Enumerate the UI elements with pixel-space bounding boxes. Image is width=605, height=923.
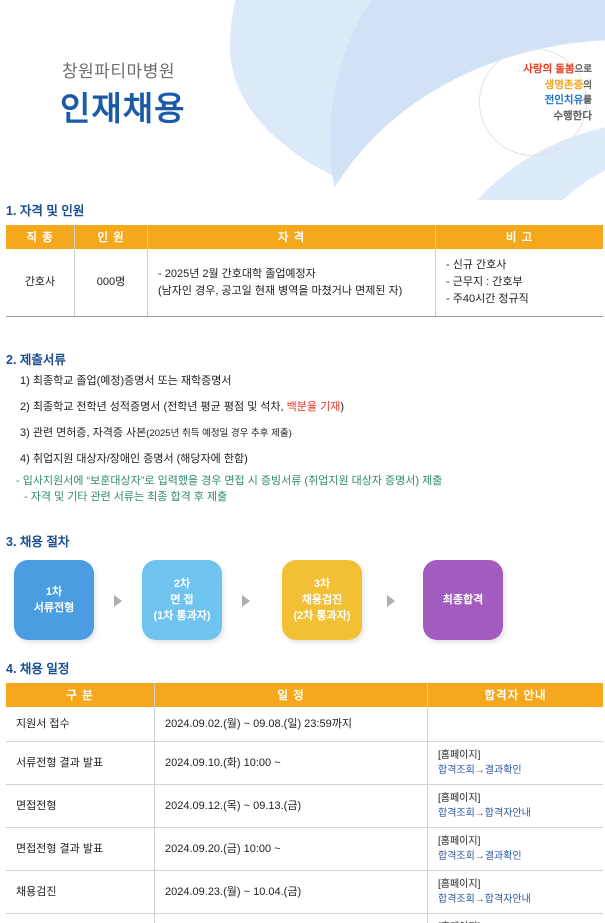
process-step-2: 2차 면 접 (1차 통과자) [142, 560, 222, 640]
page-title: 인재채용 [60, 82, 185, 130]
step-1-line-1: 1차 [34, 584, 74, 600]
slogan-line-3-suffix: 를 [583, 95, 592, 106]
cell-schedule: 2024.09.10.(화) 10:00 ~ [155, 742, 428, 785]
doc-2-text-after: ) [340, 401, 344, 413]
notice-link[interactable]: 합격조회→합격자안내 [438, 806, 593, 821]
step-1-line-2: 서류전형 [34, 600, 74, 616]
slogan-line-3-accent: 전인치유 [545, 94, 584, 106]
col-job: 직 종 [6, 225, 75, 249]
flow-arrow-icon-1 [114, 595, 122, 607]
documents-sub-note-1: - 입사지원서에 “보훈대상자”로 입력했을 경우 면접 시 증빙서류 (취업지… [16, 473, 603, 489]
slogan-line-2-accent: 생명존중 [545, 79, 584, 91]
cell-job: 간호사 [6, 249, 75, 317]
cell-category: 최종 합격자 발표 [6, 914, 155, 923]
cell-category: 채용검진 [6, 871, 155, 914]
slogan-line-1: 사랑의 돌봄으로 [470, 62, 592, 78]
notice-title: [홈페이지] [438, 834, 593, 849]
qualification-table: 직 종 인 원 자 격 비 고 간호사 000명 - 2025년 2월 간호대학… [6, 225, 603, 317]
notice-title: [홈페이지] [438, 791, 593, 806]
section3-heading: 3. 채용 절차 [6, 531, 603, 550]
section2-heading: 2. 제출서류 [6, 349, 603, 368]
process-step-1: 1차 서류전형 [14, 560, 94, 640]
step-2-line-1: 2차 [154, 576, 211, 592]
cell-category: 지원서 접수 [6, 707, 155, 742]
remark-line-3: - 주40시간 정규직 [446, 291, 593, 308]
list-item: 2) 최종학교 전학년 성적증명서 (전학년 평균 평점 및 석차, 백분율 기… [20, 400, 603, 415]
notice-title: [홈페이지] [438, 877, 593, 892]
cell-remark: - 신규 간호사 - 근무지 : 간호부 - 주40시간 정규직 [436, 249, 604, 317]
doc-3-text: 관련 면허증, 자격증 사본 [33, 427, 146, 439]
documents-sub-note-2: - 자격 및 기타 관련 서류는 최종 합격 후 제출 [24, 489, 603, 505]
col-category: 구 분 [6, 683, 155, 707]
cell-notice: [홈페이지]합격조회→합격자안내 [428, 871, 604, 914]
header-banner: 창원파티마병원 인재채용 사랑의 돌봄으로 생명존중의 전인치유를 수행한다 [0, 0, 605, 200]
table-row: 최종 합격자 발표2024.10.11.(금) 10:00~[홈페이지]합격조회… [6, 914, 603, 923]
slogan-line-1-suffix: 으로 [575, 64, 592, 75]
hospital-name: 창원파티마병원 [62, 57, 175, 82]
notice-link[interactable]: 합격조회→결과확인 [438, 763, 593, 778]
slogan-line-4: 수행한다 [470, 109, 592, 124]
notice-link[interactable]: 합격조회→합격자안내 [438, 892, 593, 907]
cell-schedule: 2024.09.12.(목) ~ 09.13.(금) [155, 785, 428, 828]
doc-2-num: 2) [20, 401, 30, 413]
cell-category: 면접전형 [6, 785, 155, 828]
step-2-line-3: (1차 통과자) [154, 608, 211, 624]
qualification-line-1: - 2025년 2월 간호대학 졸업예정자 [158, 266, 425, 283]
doc-3-num: 3) [20, 427, 30, 439]
table-row: 면접전형2024.09.12.(목) ~ 09.13.(금)[홈페이지]합격조회… [6, 785, 603, 828]
table-header-row: 구 분 일 정 합격자 안내 [6, 683, 603, 707]
cell-notice: [홈페이지]합격조회→결과확인 [428, 742, 604, 785]
slogan: 사랑의 돌봄으로 생명존중의 전인치유를 수행한다 [470, 62, 592, 123]
flow-arrow-icon-3 [387, 595, 395, 607]
notice-title: [홈페이지] [438, 748, 593, 763]
doc-3-small-note: (2025년 취득 예정일 경우 추후 제출) [146, 428, 292, 439]
cell-schedule: 2024.09.23.(월) ~ 10.04.(금) [155, 871, 428, 914]
section-schedule: 4. 채용 일정 구 분 일 정 합격자 안내 지원서 접수2024.09.02… [0, 658, 605, 923]
schedule-table: 구 분 일 정 합격자 안내 지원서 접수2024.09.02.(월) ~ 09… [6, 683, 603, 923]
doc-2-highlight: 백분율 기재 [287, 401, 341, 413]
table-row: 간호사 000명 - 2025년 2월 간호대학 졸업예정자 (남자인 경우, … [6, 249, 603, 317]
list-item: 1) 최종학교 졸업(예정)증명서 또는 재학증명서 [20, 374, 603, 389]
documents-list: 1) 최종학교 졸업(예정)증명서 또는 재학증명서 2) 최종학교 전학년 성… [20, 374, 603, 467]
cell-notice: [홈페이지]합격조회→결과확인 [428, 914, 604, 923]
list-item: 4) 취업지원 대상자/장애인 증명서 (해당자에 한함) [20, 452, 603, 467]
slogan-line-3: 전인치유를 [470, 93, 592, 109]
process-step-4: 최종합격 [423, 560, 503, 640]
recruitment-poster: 창원파티마병원 인재채용 사랑의 돌봄으로 생명존중의 전인치유를 수행한다 1… [0, 0, 605, 923]
section-process: 3. 채용 절차 1차 서류전형 2차 면 접 (1차 통과자) 3차 [0, 531, 605, 646]
remark-line-2: - 근무지 : 간호부 [446, 274, 593, 291]
slogan-line-2: 생명존중의 [470, 78, 592, 94]
table-row: 채용검진2024.09.23.(월) ~ 10.04.(금)[홈페이지]합격조회… [6, 871, 603, 914]
doc-1-num: 1) [20, 375, 30, 387]
cell-count: 000명 [75, 249, 148, 317]
cell-notice [428, 707, 604, 742]
col-count: 인 원 [75, 225, 148, 249]
step-2-line-2: 면 접 [154, 592, 211, 608]
doc-4-text: 취업지원 대상자/장애인 증명서 (해당자에 한함) [33, 453, 248, 465]
flow-arrow-icon-2 [242, 595, 250, 607]
table-header-row: 직 종 인 원 자 격 비 고 [6, 225, 603, 249]
cell-qualification: - 2025년 2월 간호대학 졸업예정자 (남자인 경우, 공고일 현재 병역… [148, 249, 436, 317]
cell-schedule: 2024.09.02.(월) ~ 09.08.(일) 23:59까지 [155, 707, 428, 742]
cell-notice: [홈페이지]합격조회→합격자안내 [428, 785, 604, 828]
col-schedule: 일 정 [155, 683, 428, 707]
doc-1-text: 최종학교 졸업(예정)증명서 또는 재학증명서 [33, 375, 232, 387]
step-4-line-1: 최종합격 [443, 592, 483, 608]
slogan-line-2-suffix: 의 [583, 80, 592, 91]
table-row: 서류전형 결과 발표2024.09.10.(화) 10:00 ~[홈페이지]합격… [6, 742, 603, 785]
cell-category: 면접전형 결과 발표 [6, 828, 155, 871]
cell-schedule: 2024.10.11.(금) 10:00~ [155, 914, 428, 923]
cell-notice: [홈페이지]합격조회→결과확인 [428, 828, 604, 871]
section-documents: 2. 제출서류 1) 최종학교 졸업(예정)증명서 또는 재학증명서 2) 최종… [0, 349, 605, 505]
step-3-line-1: 3차 [294, 576, 351, 592]
doc-2-text-before: 최종학교 전학년 성적증명서 (전학년 평균 평점 및 석차, [33, 401, 287, 413]
table-row: 면접전형 결과 발표2024.09.20.(금) 10:00 ~[홈페이지]합격… [6, 828, 603, 871]
cell-category: 서류전형 결과 발표 [6, 742, 155, 785]
section4-heading: 4. 채용 일정 [6, 658, 603, 677]
col-remark: 비 고 [436, 225, 604, 249]
doc-4-num: 4) [20, 453, 30, 465]
list-item: 3) 관련 면허증, 자격증 사본(2025년 취득 예정일 경우 추후 제출) [20, 426, 603, 441]
col-qualification: 자 격 [148, 225, 436, 249]
process-flow: 1차 서류전형 2차 면 접 (1차 통과자) 3차 채용검진 (2차 통과자) [6, 556, 603, 646]
section-qualification: 1. 자격 및 인원 직 종 인 원 자 격 비 고 간호사 000명 - 20… [0, 200, 605, 317]
step-3-line-3: (2차 통과자) [294, 608, 351, 624]
process-step-3: 3차 채용검진 (2차 통과자) [282, 560, 362, 640]
col-notice: 합격자 안내 [428, 683, 604, 707]
step-3-line-2: 채용검진 [294, 592, 351, 608]
notice-link[interactable]: 합격조회→결과확인 [438, 849, 593, 864]
qualification-line-2: (남자인 경우, 공고일 현재 병역을 마쳤거나 면제된 자) [158, 283, 425, 300]
section1-heading: 1. 자격 및 인원 [6, 200, 603, 219]
table-row: 지원서 접수2024.09.02.(월) ~ 09.08.(일) 23:59까지 [6, 707, 603, 742]
cell-schedule: 2024.09.20.(금) 10:00 ~ [155, 828, 428, 871]
slogan-line-1-accent: 사랑의 돌봄 [523, 63, 574, 75]
remark-line-1: - 신규 간호사 [446, 257, 593, 274]
